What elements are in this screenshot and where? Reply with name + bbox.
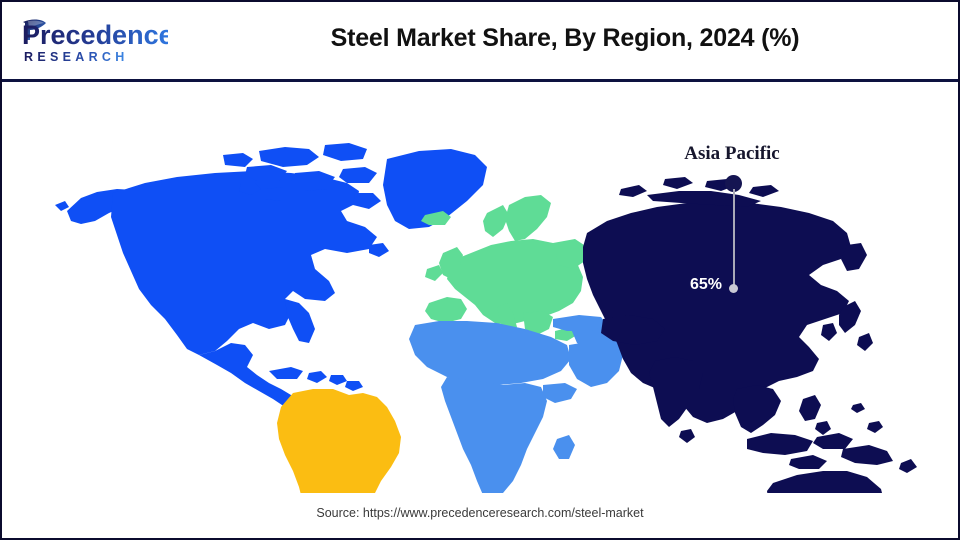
page-title: Steel Market Share, By Region, 2024 (%) xyxy=(192,24,938,53)
map-container: Asia Pacific 65% xyxy=(2,85,960,495)
infographic-root: Precedence RESEARCH Steel Market Share, … xyxy=(0,0,960,540)
header-bar: Precedence RESEARCH Steel Market Share, … xyxy=(2,2,958,82)
source-caption: Source: https://www.precedenceresearch.c… xyxy=(2,506,958,520)
logo-subtext: RESEARCH xyxy=(24,50,129,64)
region-north-america[interactable] xyxy=(55,143,487,407)
precedence-research-logo: Precedence RESEARCH xyxy=(18,14,168,70)
logo-wordmark: Precedence xyxy=(22,20,168,50)
region-latin-america[interactable] xyxy=(277,389,401,493)
region-asia-pacific[interactable] xyxy=(583,177,919,493)
world-map xyxy=(47,93,927,493)
